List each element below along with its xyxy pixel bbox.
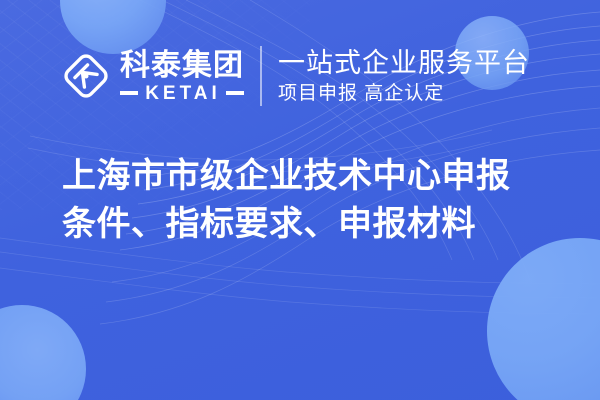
decorative-circle-bottom-right: [487, 238, 600, 400]
dash-right-icon: [226, 91, 244, 95]
brand-logo[interactable]: 科泰集团 KETAI: [58, 48, 244, 104]
brand-wordmark: 科泰集团 KETAI: [120, 50, 244, 103]
brand-name-en: KETAI: [138, 84, 226, 103]
brand-name-en-row: KETAI: [120, 84, 244, 103]
banner-header: 科泰集团 KETAI 一站式企业服务平台 项目申报 高企认定: [0, 40, 600, 112]
dash-left-icon: [120, 91, 138, 95]
slogan-sub-text: 项目申报 高企认定: [278, 83, 530, 105]
slogan-block: 一站式企业服务平台 项目申报 高企认定: [278, 48, 530, 105]
header-divider: [260, 46, 262, 106]
decorative-circle-bottom-left: [0, 305, 86, 400]
page-title: 上海市市级企业技术中心申报条件、指标要求、申报材料: [62, 152, 532, 248]
slogan-main-text: 一站式企业服务平台: [278, 48, 530, 78]
brand-name-cn: 科泰集团: [120, 50, 244, 81]
promo-banner: 科泰集团 KETAI 一站式企业服务平台 项目申报 高企认定 上海市市级企业技术…: [0, 0, 600, 400]
ketai-diamond-kp-logo-icon: [58, 48, 114, 104]
